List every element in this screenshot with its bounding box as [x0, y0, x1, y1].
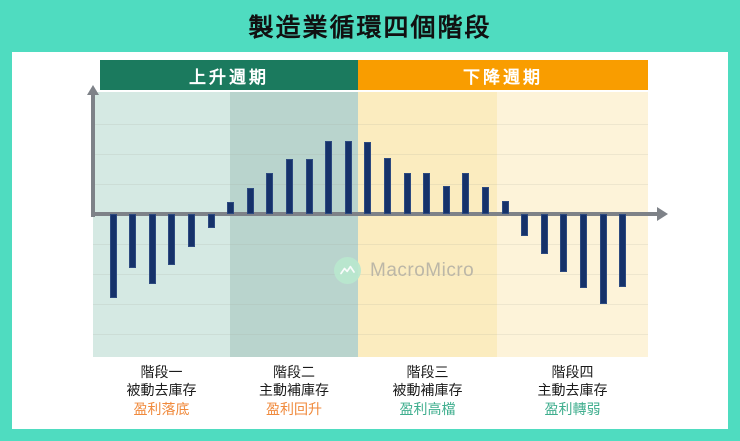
bar — [482, 187, 489, 214]
macromicro-logo-icon — [334, 257, 361, 284]
bar — [345, 141, 352, 214]
zone-stage-3 — [358, 92, 497, 357]
bar — [306, 159, 313, 214]
stage-1-number: 階段一 — [93, 364, 230, 382]
bar — [521, 214, 528, 236]
stage-1-profit: 盈利落底 — [93, 401, 230, 419]
bar — [247, 188, 254, 214]
bar — [188, 214, 195, 247]
bar — [462, 173, 469, 214]
macromicro-watermark-text: MacroMicro — [370, 260, 474, 282]
bar — [384, 158, 391, 214]
bar — [110, 214, 117, 298]
bar — [443, 186, 450, 214]
bar — [325, 141, 332, 214]
macromicro-watermark: MacroMicro — [334, 257, 474, 284]
title-bar: 製造業循環四個階段 — [0, 0, 740, 52]
infographic-frame: 製造業循環四個階段 上升週期 下降週期 — [0, 0, 740, 441]
stage-1-action: 被動去庫存 — [93, 382, 230, 400]
chart-canvas: 上升週期 下降週期 — [12, 52, 728, 429]
stage-4-action: 主動去庫存 — [497, 382, 648, 400]
bar — [149, 214, 156, 284]
bar — [560, 214, 567, 272]
gridline — [93, 334, 648, 335]
stage-3-profit: 盈利高檔 — [358, 401, 497, 419]
stage-2-number: 階段二 — [230, 364, 358, 382]
gridline — [93, 304, 648, 305]
bar — [364, 142, 371, 214]
bar — [502, 201, 509, 214]
stage-caption-2: 階段二 主動補庫存 盈利回升 — [230, 364, 358, 429]
stage-4-number: 階段四 — [497, 364, 648, 382]
bar — [619, 214, 626, 287]
stage-2-profit: 盈利回升 — [230, 401, 358, 419]
stage-caption-3: 階段三 被動補庫存 盈利高檔 — [358, 364, 497, 429]
stage-caption-4: 階段四 主動去庫存 盈利轉弱 — [497, 364, 648, 429]
bar — [423, 173, 430, 214]
bar — [541, 214, 548, 254]
stage-3-action: 被動補庫存 — [358, 382, 497, 400]
bar — [168, 214, 175, 265]
bar — [580, 214, 587, 288]
zone-stage-2 — [230, 92, 358, 357]
gridline — [93, 124, 648, 125]
bar — [208, 214, 215, 228]
stage-4-profit: 盈利轉弱 — [497, 401, 648, 419]
bar — [404, 173, 411, 214]
bar — [600, 214, 607, 304]
stage-2-action: 主動補庫存 — [230, 382, 358, 400]
stage-captions: 階段一 被動去庫存 盈利落底 階段二 主動補庫存 盈利回升 階段三 被動補庫存 … — [12, 364, 728, 429]
stage-caption-1: 階段一 被動去庫存 盈利落底 — [93, 364, 230, 429]
bar — [266, 173, 273, 214]
y-axis — [91, 92, 95, 217]
bar — [129, 214, 136, 268]
stage-3-number: 階段三 — [358, 364, 497, 382]
bar — [227, 202, 234, 214]
x-axis-arrow-icon — [657, 207, 668, 221]
page-title: 製造業循環四個階段 — [248, 8, 491, 44]
x-axis — [91, 212, 658, 216]
bar — [286, 159, 293, 214]
